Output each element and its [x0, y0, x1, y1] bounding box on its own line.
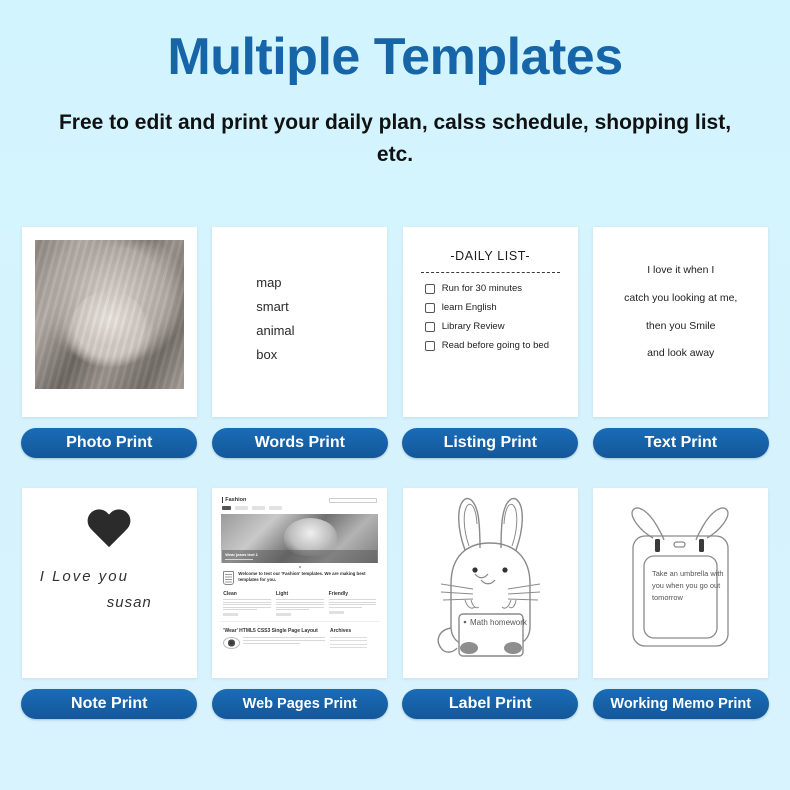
bunny-mouth — [481, 580, 495, 584]
template-card-label-print[interactable]: Math homework Label Print — [395, 488, 586, 719]
card-preview-words: map smart animal box — [212, 227, 387, 417]
column-title: Friendly — [329, 591, 377, 597]
read-more-button[interactable] — [223, 613, 238, 616]
badge-clip-icon — [674, 542, 685, 547]
photo-print-button[interactable]: Photo Print — [21, 428, 197, 458]
note-bullet-icon — [463, 621, 466, 624]
badge-ear-right — [696, 508, 728, 540]
bunny-foot-left — [460, 642, 478, 654]
template-grid: Photo Print map smart animal box Words P… — [0, 227, 790, 719]
archive-link[interactable] — [330, 644, 367, 645]
bunny-nose — [475, 574, 488, 578]
memo-line: Take an umbrella with — [652, 569, 723, 578]
footer-main: 'Wear' HTML5 CSS3 Single Page Layout — [223, 628, 325, 650]
bunny-eye-right — [502, 567, 507, 572]
template-card-working-memo-print[interactable]: Take an umbrella with you when you go ou… — [586, 488, 777, 719]
list-item-label: learn English — [442, 302, 497, 313]
note-line-2: susan — [22, 594, 197, 611]
bunny-whiskers-right — [508, 584, 540, 600]
badge-ear-left — [632, 508, 664, 540]
archives-title: Archives — [330, 628, 376, 634]
archive-link[interactable] — [330, 640, 367, 641]
list-item-label: Read before going to bed — [442, 340, 549, 351]
text-line: I love it when I — [606, 257, 755, 285]
footer-title: 'Wear' HTML5 CSS3 Single Page Layout — [223, 628, 325, 634]
archive-link[interactable] — [330, 647, 367, 648]
placeholder-lines — [329, 599, 377, 608]
card-preview-listing: -DAILY LIST- Run for 30 minutes learn En… — [403, 227, 578, 417]
note-print-button[interactable]: Note Print — [21, 689, 197, 719]
bunny-whiskers-left — [441, 584, 473, 600]
template-card-words-print[interactable]: map smart animal box Words Print — [205, 227, 396, 458]
read-more-button[interactable] — [329, 611, 344, 614]
note-line-1: I Love you — [22, 568, 197, 585]
card-preview-memo: Take an umbrella with you when you go ou… — [593, 488, 768, 678]
archive-link[interactable] — [330, 637, 367, 638]
dashed-divider — [421, 272, 560, 273]
nav-item-home[interactable] — [222, 506, 231, 510]
webpage-footer: 'Wear' HTML5 CSS3 Single Page Layout Arc… — [219, 621, 380, 650]
badge-pin-right — [699, 539, 704, 552]
label-note-text: Math homework — [470, 618, 528, 627]
promo-page: Multiple Templates Free to edit and prin… — [0, 0, 790, 790]
memo-line: tomorrow — [652, 593, 683, 602]
words-print-button[interactable]: Words Print — [212, 428, 388, 458]
bunny-foot-right — [504, 642, 522, 654]
search-input[interactable] — [329, 498, 377, 503]
footer-badge-icon — [223, 637, 240, 649]
text-print-button[interactable]: Text Print — [593, 428, 769, 458]
bunny-paw-right — [502, 600, 516, 608]
text-lines: I love it when I catch you looking at me… — [593, 227, 768, 368]
column-friendly: Friendly — [329, 591, 377, 617]
list-item-label: Library Review — [442, 321, 505, 332]
note-content: I Love you susan — [22, 488, 197, 611]
webpage-hero-image: Wear jeans text 1 — [221, 514, 378, 563]
footer-row — [223, 637, 325, 649]
working-memo-print-button[interactable]: Working Memo Print — [593, 689, 769, 719]
checkbox-icon[interactable] — [425, 341, 435, 351]
checkbox-icon[interactable] — [425, 303, 435, 313]
list-item[interactable]: Run for 30 minutes — [425, 283, 564, 294]
list-item-label: Run for 30 minutes — [442, 283, 522, 294]
listing-print-button[interactable]: Listing Print — [402, 428, 578, 458]
column-title: Light — [276, 591, 324, 597]
placeholder-lines — [276, 599, 324, 610]
badge-pin-left — [655, 539, 660, 552]
checkbox-icon[interactable] — [425, 284, 435, 294]
bunny-paw-left — [465, 600, 479, 608]
memo-badge-drawing: Take an umbrella with you when you go ou… — [593, 488, 768, 678]
column-clean: Clean — [223, 591, 271, 617]
template-card-text-print[interactable]: I love it when I catch you looking at me… — [586, 227, 777, 458]
template-card-note-print[interactable]: I Love you susan Note Print — [14, 488, 205, 719]
page-header: Multiple Templates Free to edit and prin… — [0, 0, 790, 172]
nav-item-contact[interactable] — [269, 506, 282, 510]
word-item: animal — [256, 319, 387, 343]
list-item[interactable]: learn English — [425, 302, 564, 313]
template-card-web-pages-print[interactable]: Fashion Wear jeans text 1 — [205, 488, 396, 719]
bunny-ear-left — [458, 499, 479, 550]
nav-item-blog[interactable] — [252, 506, 265, 510]
text-line: and look away — [606, 340, 755, 368]
webpage-mockup: Fashion Wear jeans text 1 — [212, 488, 387, 650]
webpage-logo: Fashion — [222, 497, 246, 503]
card-preview-webpage: Fashion Wear jeans text 1 — [212, 488, 387, 678]
webpage-columns: Clean Light Friendly — [219, 585, 380, 617]
read-more-button[interactable] — [276, 613, 291, 616]
text-line: catch you looking at me, — [606, 285, 755, 313]
welcome-text: Welcome to test our 'Fashion' templates.… — [238, 571, 376, 584]
bunny-tail — [438, 628, 457, 652]
text-line: then you Smile — [606, 313, 755, 341]
webpage-welcome: Welcome to test our 'Fashion' templates.… — [219, 568, 380, 585]
card-preview-label: Math homework — [403, 488, 578, 678]
words-list: map smart animal box — [212, 227, 387, 367]
webpage-topbar: Fashion — [219, 495, 380, 506]
bunny-eye-left — [472, 567, 477, 572]
word-item: map — [256, 271, 387, 295]
label-print-button[interactable]: Label Print — [402, 689, 578, 719]
card-preview-note: I Love you susan — [22, 488, 197, 678]
template-card-listing-print[interactable]: -DAILY LIST- Run for 30 minutes learn En… — [395, 227, 586, 458]
checkbox-icon[interactable] — [425, 322, 435, 332]
daily-list-title: -DAILY LIST- — [417, 249, 564, 263]
hero-caption-text: Wear jeans text 1 — [225, 552, 374, 557]
card-preview-text: I love it when I catch you looking at me… — [593, 227, 768, 417]
list-item[interactable]: Library Review — [425, 321, 564, 332]
word-item: box — [256, 343, 387, 367]
placeholder-lines — [223, 599, 271, 610]
hero-caption-underline — [225, 559, 253, 561]
jar-icon — [223, 571, 234, 585]
card-preview-photo — [22, 227, 197, 417]
column-light: Light — [276, 591, 324, 617]
webpage-nav — [219, 506, 380, 513]
template-card-photo-print[interactable]: Photo Print — [14, 227, 205, 458]
web-pages-print-button[interactable]: Web Pages Print — [212, 689, 388, 719]
bunny-label-drawing: Math homework — [403, 488, 578, 678]
footer-archives: Archives — [330, 628, 376, 650]
list-item[interactable]: Read before going to bed — [425, 340, 564, 351]
memo-line: you when you go out — [652, 581, 720, 590]
column-title: Clean — [223, 591, 271, 597]
placeholder-lines — [243, 637, 325, 645]
word-item: smart — [256, 295, 387, 319]
photo-frame — [22, 227, 197, 417]
heart-icon — [86, 510, 132, 552]
page-title: Multiple Templates — [0, 30, 790, 85]
daily-list: -DAILY LIST- Run for 30 minutes learn En… — [403, 227, 578, 351]
page-subtitle: Free to edit and print your daily plan, … — [0, 107, 790, 172]
nav-item-pages[interactable] — [235, 506, 248, 510]
hero-caption: Wear jeans text 1 — [222, 550, 377, 563]
portrait-photo-image — [35, 240, 184, 389]
